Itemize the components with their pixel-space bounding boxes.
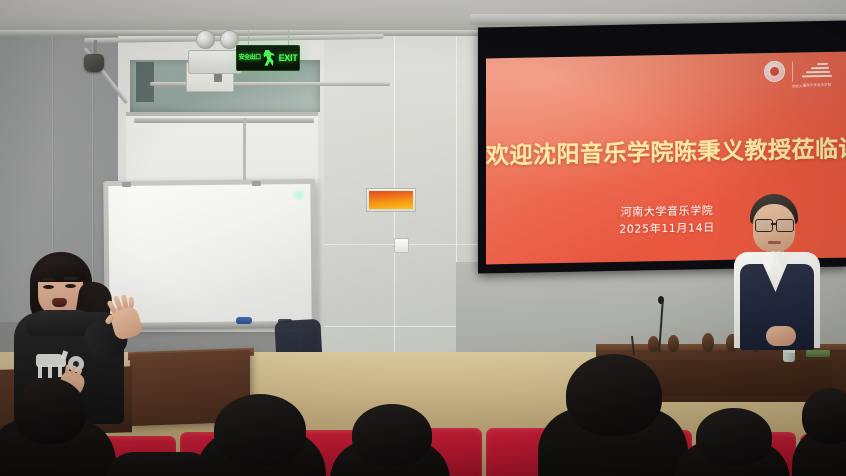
exit-sign-english-label: EXIT [279,54,298,63]
audience-head [352,404,432,466]
poster-graphic [369,191,413,209]
light-switch[interactable] [394,238,409,253]
audience-member [106,452,216,476]
eyeglasses-bridge [771,223,777,225]
host-mouth [52,298,67,307]
professor-mouth [768,241,781,244]
whiteboard-eraser[interactable] [236,317,252,324]
host-eye [65,284,76,288]
audience-head [566,354,662,436]
male-professor [726,194,830,356]
henan-university-seal-icon: 河南大学 [764,61,785,82]
exit-sign: 安全出口 EXIT [236,45,300,71]
slide-title: 欢迎沈阳音乐学院陈秉义教授莅临讲学 [486,130,846,171]
audience-head [214,394,306,466]
running-man-icon [263,50,277,66]
professor-clasped-hands [766,326,796,346]
audience-head [14,378,86,444]
security-camera-icon [84,54,104,72]
eyeglasses-icon [776,219,794,232]
music-school-mark-icon: 河南大学音乐学院 [800,61,834,81]
audience-head [802,388,846,444]
seal-core [770,67,779,76]
slide-logo-group: 河南大学 河南大学音乐学院 [764,60,834,82]
emergency-light [188,50,242,74]
audience-head [696,408,772,466]
whiteboard-clip [252,181,261,186]
lecture-hall-photo: 安全出口 EXIT 河南大学 河南大学音乐学院 欢迎沈阳音乐学院陈秉义教授莅临讲… [0,0,846,476]
whiteboard-clip [122,182,131,187]
exit-sign-chinese-label: 安全出口 [239,55,261,61]
host-eyebrow [42,278,55,281]
desk-object [668,335,679,352]
desk-object [702,333,714,352]
mark-caption: 河南大学音乐学院 [803,82,832,88]
host-eyebrow [64,277,77,280]
logo-divider [792,61,793,81]
microphone-head-icon [658,296,664,304]
eyeglasses-icon [755,219,773,232]
door-closer [134,118,314,123]
whiteboard-highlight [290,190,308,200]
emergency-lamp-icon [196,30,215,49]
fire-safety-poster [366,188,416,212]
host-eye [43,285,54,289]
